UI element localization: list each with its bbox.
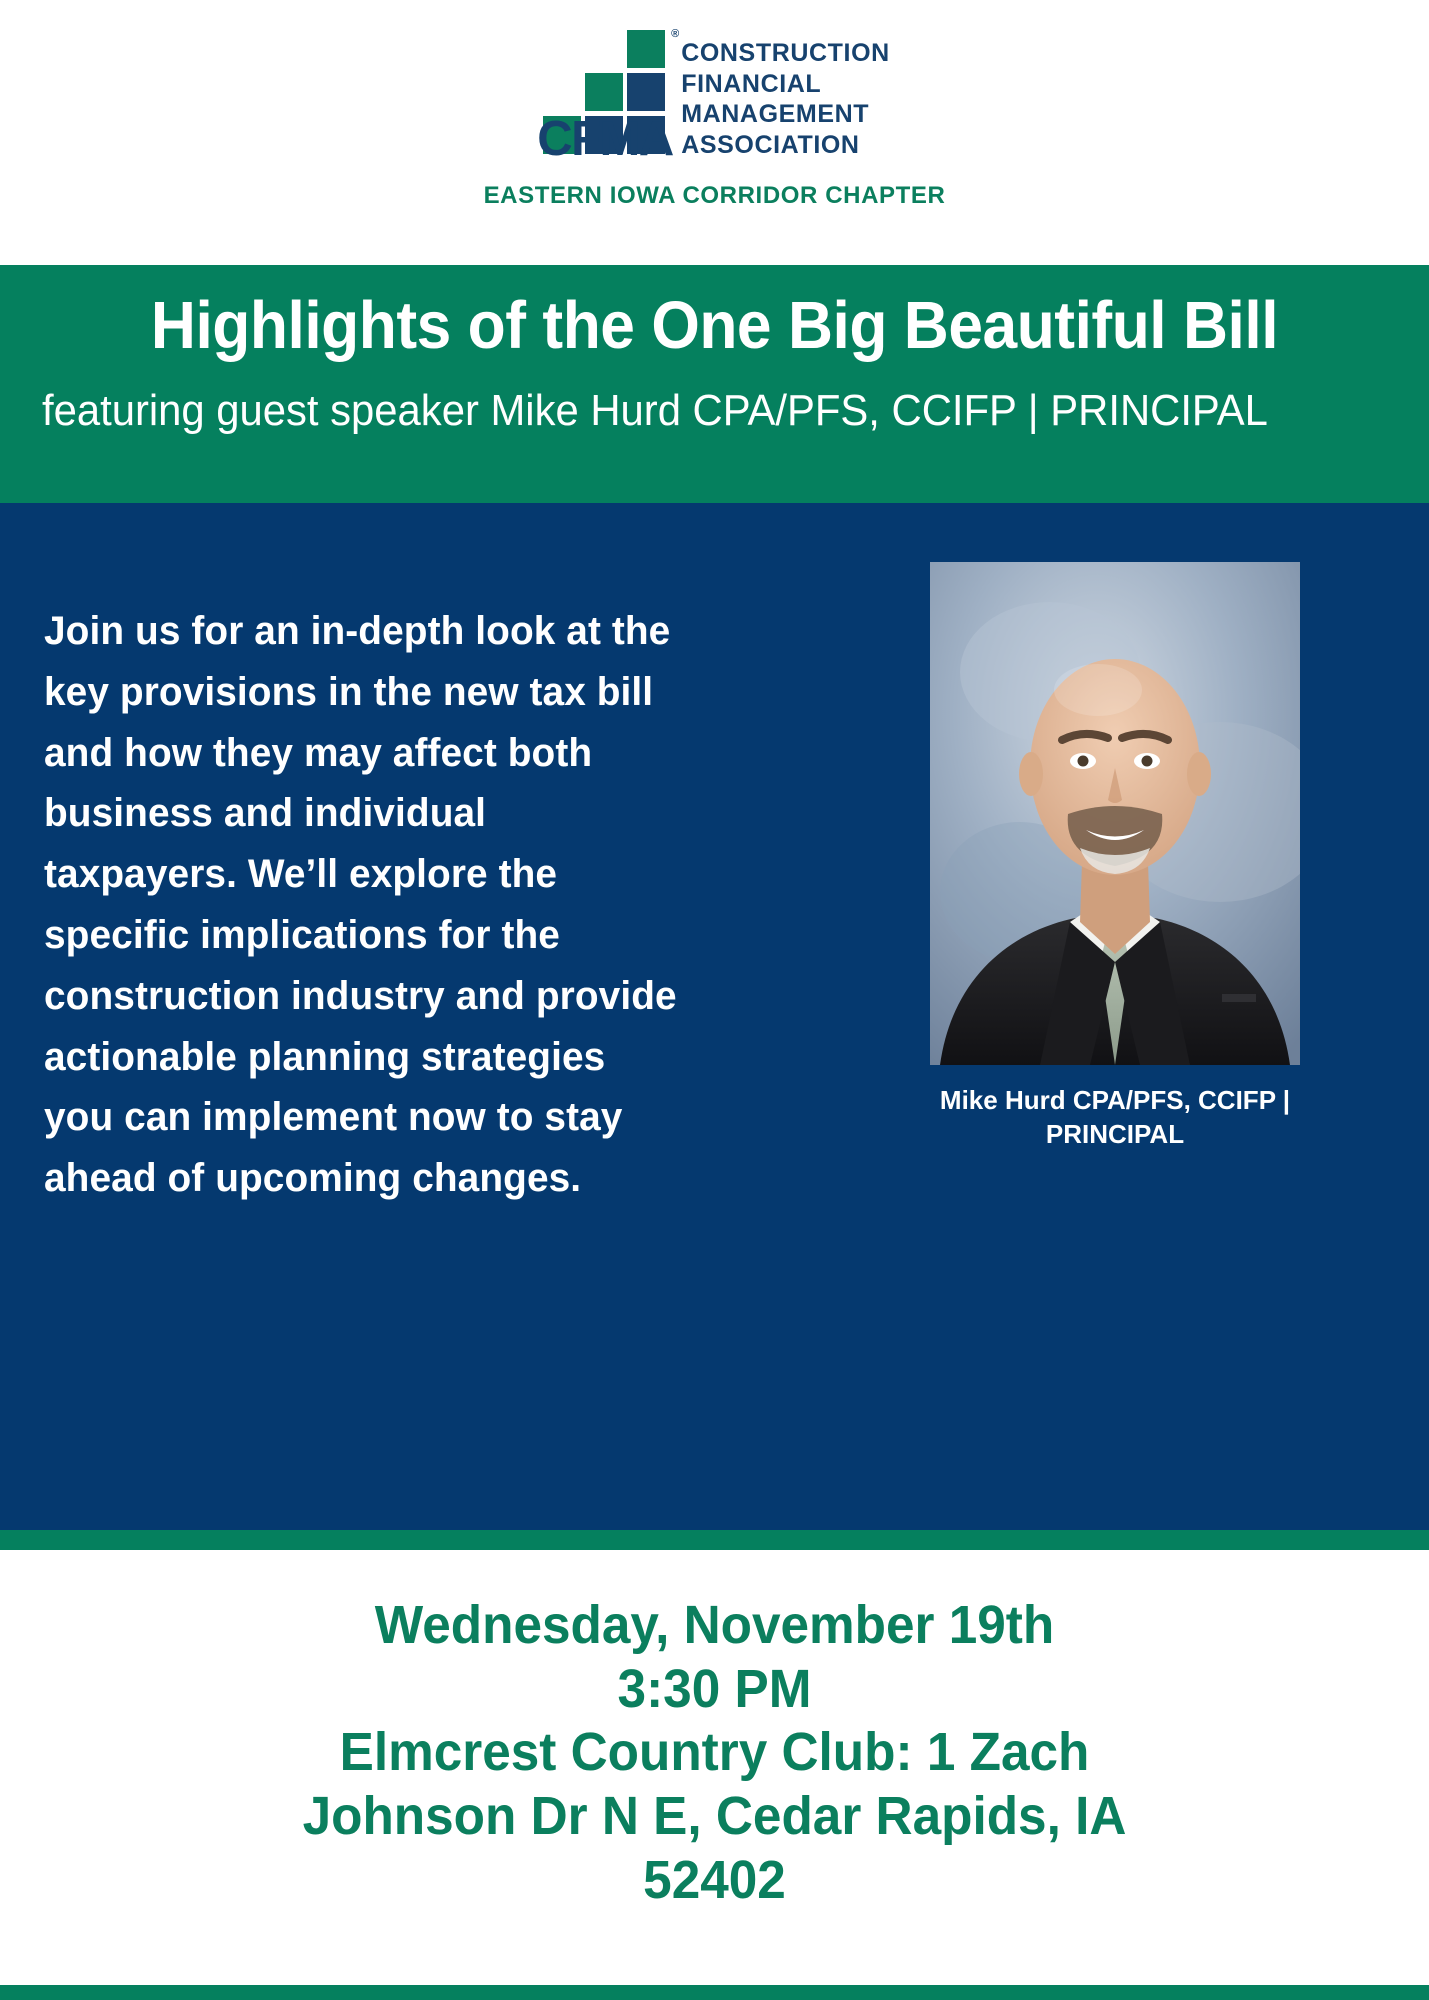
logo-line-construction: CONSTRUCTION [681,41,890,67]
body-band: Join us for an in-depth look at the key … [0,503,1429,1530]
page-title: Highlights of the One Big Beautiful Bill [89,291,1340,361]
logo-line-financial: FINANCIAL [681,72,890,98]
event-description: Join us for an in-depth look at the key … [44,601,684,1209]
cfma-logo: ® CFMA CONSTRUCTION FINANCIAL MANAGEMENT… [539,30,890,162]
footer-bar [0,1985,1429,2000]
detail-line-time: 3:30 PM [36,1658,1394,1722]
headshot-image [930,562,1300,1065]
detail-line-street: Johnson Dr N E, Cedar Rapids, IA [36,1785,1394,1849]
detail-line-date: Wednesday, November 19th [36,1594,1394,1658]
logo-line-association: ASSOCIATION [681,133,890,159]
speaker-name-caption: Mike Hurd CPA/PFS, CCIFP | PRINCIPAL [930,1083,1300,1152]
cfma-fullname: CONSTRUCTION FINANCIAL MANAGEMENT ASSOCI… [681,41,890,162]
chapter-name: EASTERN IOWA CORRIDOR CHAPTER [484,182,946,210]
poster-header: ® CFMA CONSTRUCTION FINANCIAL MANAGEMENT… [0,0,1429,265]
page-subtitle: featuring guest speaker Mike Hurd CPA/PF… [42,387,1320,435]
speaker-photo [930,562,1300,1065]
section-divider [0,1530,1429,1550]
logo-line-management: MANAGEMENT [681,102,890,128]
registered-mark-icon: ® [671,28,679,40]
detail-line-venue: Elmcrest Country Club: 1 Zach [36,1721,1394,1785]
event-details: Wednesday, November 19th 3:30 PM Elmcres… [0,1550,1429,1993]
cfma-wordmark: CFMA [537,115,673,164]
title-band: Highlights of the One Big Beautiful Bill… [0,265,1429,503]
cfma-staircase-icon: ® CFMA [539,30,667,162]
detail-line-zip: 52402 [36,1849,1394,1913]
